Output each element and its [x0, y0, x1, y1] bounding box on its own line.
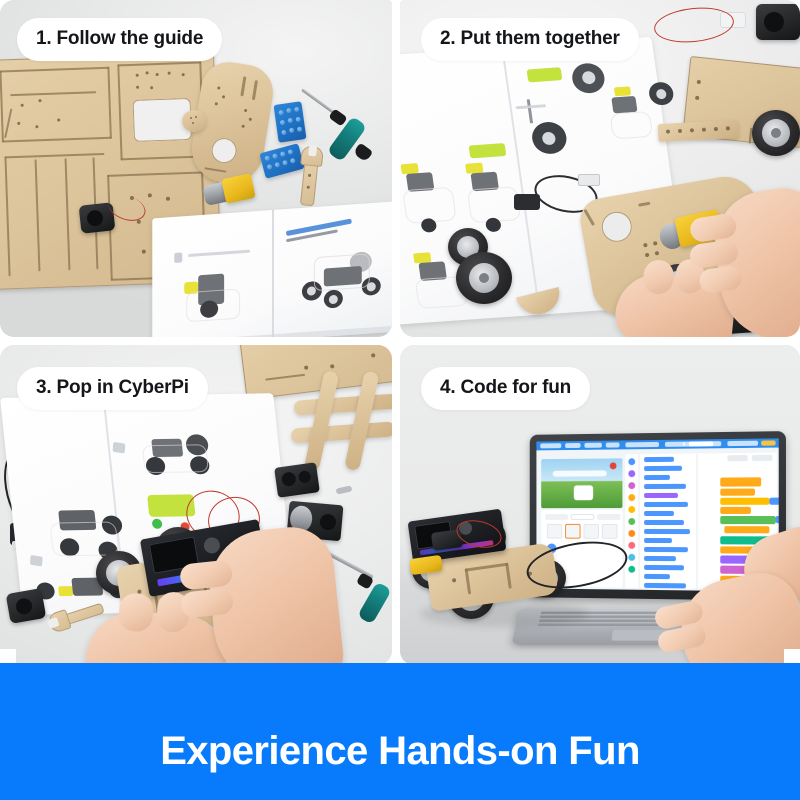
- stage-stop-button[interactable]: [610, 462, 617, 469]
- panel-follow-the-guide: 1. Follow the guide: [0, 0, 392, 337]
- panel-1-label: 1. Follow the guide: [17, 18, 222, 61]
- photo-grid: 1. Follow the guide: [0, 0, 800, 665]
- screwdriver-right: [358, 575, 392, 645]
- screw-pin: [336, 485, 353, 494]
- banner-title: Experience Hands-on Fun: [0, 731, 800, 771]
- motor-lower-left: [6, 588, 47, 624]
- booklet-diagram-right: [296, 246, 382, 310]
- page-number-15: [113, 442, 126, 454]
- ribbon-cable: [648, 8, 758, 48]
- ide-toolbar[interactable]: [536, 438, 778, 450]
- booklet-step-number: [174, 252, 182, 263]
- bottom-banner: Experience Hands-on Fun: [0, 663, 800, 800]
- highlight-swatch: [527, 67, 563, 82]
- booklet-diagram-left: [178, 267, 258, 329]
- panel-2-label: 2. Put them together: [421, 18, 639, 61]
- ide-stage[interactable]: [541, 458, 622, 508]
- rubber-wheel-mid: [456, 252, 512, 304]
- chassis-hole: [210, 136, 239, 165]
- page-number-13: [30, 555, 43, 567]
- wood-disc: [182, 110, 206, 132]
- panel-3-label: 3. Pop in CyberPi: [17, 367, 208, 410]
- wrench-tool: [296, 145, 326, 207]
- script-hat-block: [720, 477, 761, 486]
- blue-stud-plate-lower: [259, 143, 304, 178]
- sensor-module: [274, 462, 320, 498]
- panel-put-them-together: 2. Put them together: [400, 0, 800, 337]
- booklet-figure-right: [135, 434, 244, 480]
- rubber-wheel-right: [752, 110, 800, 156]
- motor-top-right: [756, 4, 800, 40]
- panel-pop-in-cyberpi: 3. Pop in CyberPi: [0, 345, 392, 665]
- sprite-horse: [574, 485, 593, 500]
- stage-speech-bubble: [553, 470, 607, 476]
- instruction-booklet: [152, 201, 392, 337]
- panel-4-label: 4. Code for fun: [421, 367, 590, 410]
- poster-root: 1. Follow the guide: [0, 0, 800, 800]
- usb-cable: [526, 535, 656, 593]
- panel-code-for-fun: 4. Code for fun: [400, 345, 800, 665]
